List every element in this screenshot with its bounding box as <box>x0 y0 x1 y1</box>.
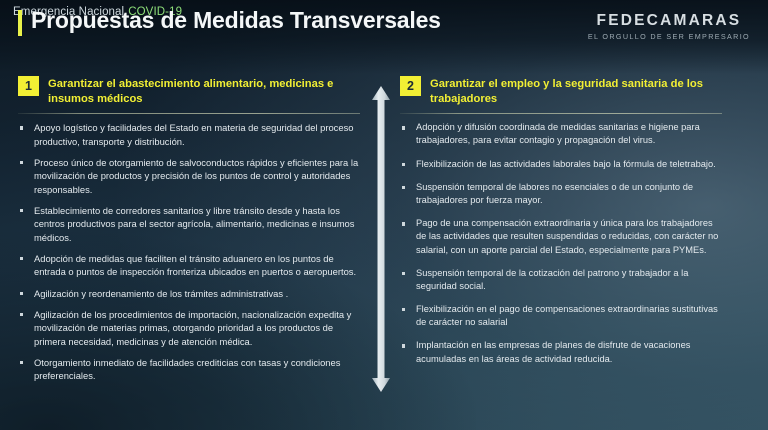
logo-name: FEDECAMARAS <box>588 12 750 30</box>
list-item: Agilización y reordenamiento de los trám… <box>18 287 360 300</box>
title-block: Propuestas de Medidas Transversales <box>18 8 441 36</box>
list-item: Suspensión temporal de labores no esenci… <box>400 181 722 207</box>
list-item: Adopción y difusión coordinada de medida… <box>400 121 722 147</box>
column-2-header: 2 Garantizar el empleo y la seguridad sa… <box>400 76 722 107</box>
column-2-bullet-list: Adopción y difusión coordinada de medida… <box>400 121 722 366</box>
column-1-number-badge: 1 <box>18 76 39 96</box>
logo-tagline: EL ORGULLO DE SER EMPRESARIO <box>588 32 750 41</box>
list-item: Apoyo logístico y facilidades del Estado… <box>18 121 360 148</box>
slide-header: Propuestas de Medidas Transversales Emer… <box>0 0 768 68</box>
double-arrow-vertical-icon <box>370 86 392 392</box>
column-1: 1 Garantizar el abastecimiento alimentar… <box>0 76 368 430</box>
slide-root: Propuestas de Medidas Transversales Emer… <box>0 0 768 430</box>
page-title: Propuestas de Medidas Transversales <box>31 8 441 33</box>
list-item: Proceso único de otorgamiento de salvoco… <box>18 156 360 196</box>
list-item: Agilización de los procedimientos de imp… <box>18 308 360 348</box>
list-item: Establecimiento de corredores sanitarios… <box>18 204 360 244</box>
column-2-title: Garantizar el empleo y la seguridad sani… <box>430 76 722 107</box>
list-item: Suspensión temporal de la cotización del… <box>400 267 722 293</box>
title-accent-bar <box>18 10 22 36</box>
list-item: Implantación en las empresas de planes d… <box>400 339 722 365</box>
column-2-number-badge: 2 <box>400 76 421 96</box>
column-1-bullet-list: Apoyo logístico y facilidades del Estado… <box>18 121 360 383</box>
fedecamaras-logo: FEDECAMARAS EL ORGULLO DE SER EMPRESARIO <box>588 12 750 41</box>
column-2: 2 Garantizar el empleo y la seguridad sa… <box>368 76 736 430</box>
list-item: Otorgamiento inmediato de facilidades cr… <box>18 356 360 383</box>
list-item: Pago de una compensación extraordinaria … <box>400 217 722 257</box>
list-item: Flexibilización de las actividades labor… <box>400 158 722 171</box>
column-1-title: Garantizar el abastecimiento alimentario… <box>48 76 360 107</box>
column-1-divider <box>18 113 360 114</box>
list-item: Flexibilización en el pago de compensaci… <box>400 303 722 329</box>
column-2-divider <box>400 113 722 114</box>
column-1-header: 1 Garantizar el abastecimiento alimentar… <box>18 76 360 107</box>
list-item: Adopción de medidas que faciliten el trá… <box>18 252 360 279</box>
